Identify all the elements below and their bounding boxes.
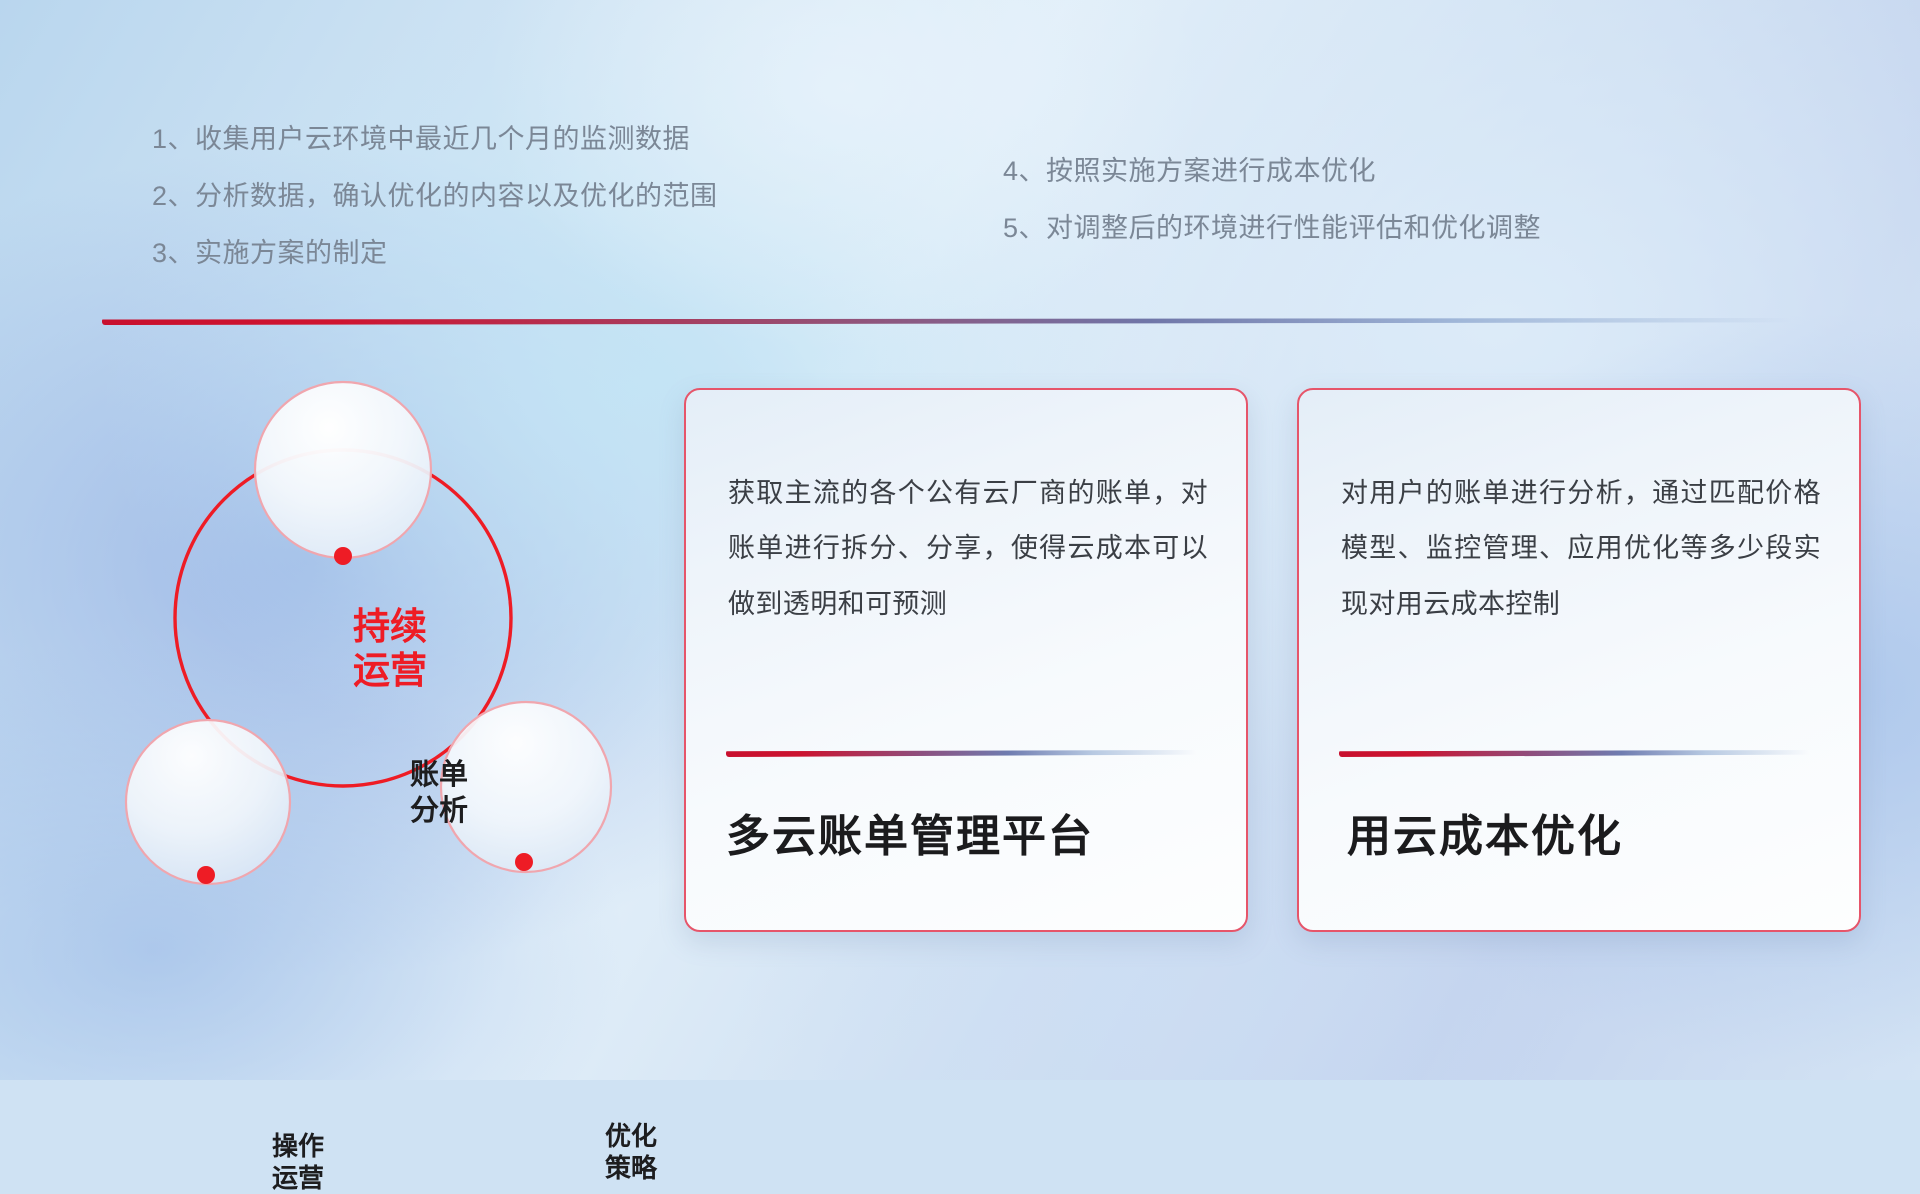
- step-item-5: 5、对调整后的环境进行性能评估和优化调整: [1003, 215, 1541, 242]
- step-item-2: 2、分析数据，确认优化的内容以及优化的范围: [152, 183, 718, 210]
- venn-label-bottom-left: 操作 运营: [218, 1130, 378, 1194]
- venn-circle-bottom-left: [126, 720, 290, 884]
- venn-label-top: 账单 分析: [354, 758, 524, 830]
- venn-node-dot-3: [515, 853, 533, 871]
- steps-left-column: 1、收集用户云环境中最近几个月的监测数据 2、分析数据，确认优化的内容以及优化的…: [152, 126, 718, 297]
- venn-label-bottom-right: 优化 策略: [551, 1120, 711, 1184]
- info-card-cloud-cost-optimization[interactable]: 对用户的账单进行分析，通过匹配价格模型、监控管理、应用优化等多少段实现对用云成本…: [1297, 388, 1861, 932]
- card-title: 用云成本优化: [1347, 800, 1623, 864]
- venn-center-label: 持续 运营: [300, 605, 480, 694]
- card-divider-rule: [1339, 750, 1809, 757]
- step-item-4: 4、按照实施方案进行成本优化: [1003, 158, 1541, 185]
- card-divider-rule: [726, 750, 1196, 757]
- venn-circle-top: [255, 382, 431, 558]
- venn-node-dot-2: [197, 866, 215, 884]
- steps-right-column: 4、按照实施方案进行成本优化 5、对调整后的环境进行性能评估和优化调整: [1003, 158, 1541, 272]
- card-body-text: 对用户的账单进行分析，通过匹配价格模型、监控管理、应用优化等多少段实现对用云成本…: [1341, 466, 1821, 632]
- process-steps: 1、收集用户云环境中最近几个月的监测数据 2、分析数据，确认优化的内容以及优化的…: [0, 0, 1920, 310]
- venn-node-dot-1: [334, 547, 352, 565]
- step-item-3: 3、实施方案的制定: [152, 240, 718, 267]
- card-body-text: 获取主流的各个公有云厂商的账单，对账单进行拆分、分享，使得云成本可以做到透明和可…: [728, 466, 1208, 632]
- info-card-multi-cloud-billing[interactable]: 获取主流的各个公有云厂商的账单，对账单进行拆分、分享，使得云成本可以做到透明和可…: [684, 388, 1248, 932]
- step-item-1: 1、收集用户云环境中最近几个月的监测数据: [152, 126, 718, 153]
- card-title: 多云账单管理平台: [726, 800, 1094, 864]
